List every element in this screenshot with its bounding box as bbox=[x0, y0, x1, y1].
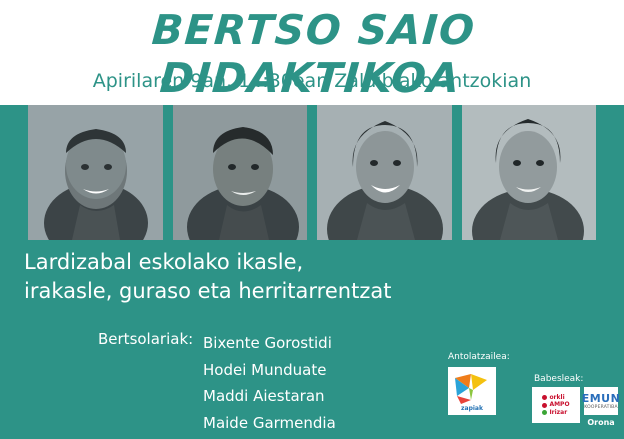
main-text: Lardizabal eskolako ikasle, irakasle, gu… bbox=[24, 248, 584, 306]
svg-text:zapiak: zapiak bbox=[461, 405, 484, 412]
logo-orona: Orona bbox=[584, 416, 618, 428]
bertsolariak-label: Bertsolariak: bbox=[98, 330, 193, 348]
poster-background: BERTSO SAIO DIDAKTIKOA Apirilaren 9an, 1… bbox=[0, 0, 624, 439]
logo-sponsors-group: orkli AMPO Irizar bbox=[532, 387, 580, 423]
list-item: Bixente Gorostidi bbox=[203, 330, 336, 357]
sponsors-label: Babesleak: bbox=[534, 374, 583, 384]
photo-hodei-munduate bbox=[173, 105, 308, 240]
logo-emun: EMUN KOOPERATIBA bbox=[584, 387, 618, 415]
main-text-line-2: irakasle, guraso eta herritarrentzat bbox=[24, 277, 584, 306]
sponsors-area: Antolatzailea: Babesleak: zapiak orkli A… bbox=[440, 352, 620, 437]
bertsolariak-list: Bixente Gorostidi Hodei Munduate Maddi A… bbox=[203, 330, 336, 437]
photo-strip bbox=[28, 105, 596, 240]
list-item: Hodei Munduate bbox=[203, 357, 336, 384]
photo-maddi-aiestaran bbox=[317, 105, 452, 240]
list-item: Maide Garmendia bbox=[203, 410, 336, 437]
list-item: Maddi Aiestaran bbox=[203, 383, 336, 410]
photo-bixente-gorostidi bbox=[28, 105, 163, 240]
photo-maide-garmendia bbox=[462, 105, 597, 240]
organizer-label: Antolatzailea: bbox=[448, 352, 510, 362]
event-subtitle: Apirilaren 9an, 14:30ean Zaldibiako antz… bbox=[0, 70, 624, 92]
logo-zapiak-bat: zapiak bbox=[448, 367, 496, 415]
main-text-line-1: Lardizabal eskolako ikasle, bbox=[24, 248, 584, 277]
